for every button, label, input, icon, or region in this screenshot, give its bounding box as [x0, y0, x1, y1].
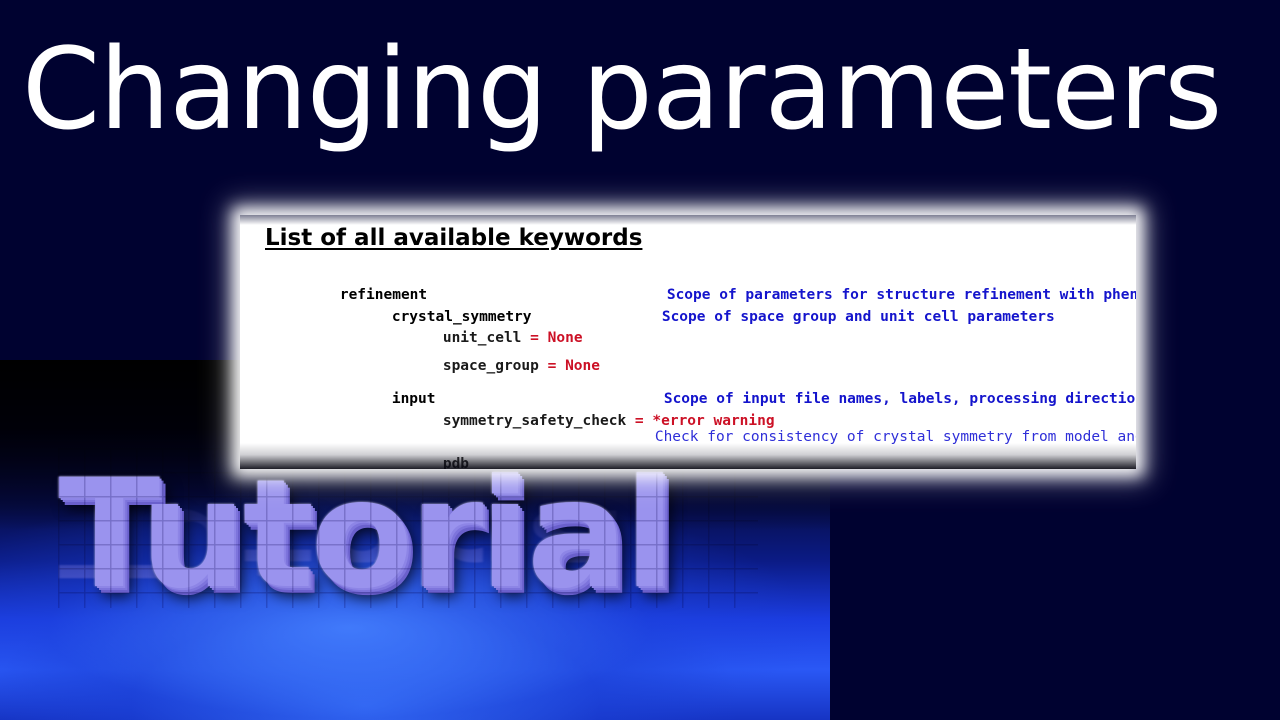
page-title: Changing parameters [22, 34, 1262, 146]
keyword-value: None [565, 358, 600, 374]
panel-heading: List of all available keywords [265, 225, 642, 251]
tutorial-word: Tutorial [58, 448, 671, 622]
panel-edge-bottom [240, 443, 1136, 469]
keyword-help-text: Scope of space group and unit cell param… [662, 309, 1055, 325]
panel-edge-top [240, 215, 1136, 225]
keywords-panel: List of all available keywords refinemen… [240, 215, 1136, 469]
keywords-panel-inner: List of all available keywords refinemen… [240, 215, 1136, 469]
keyword-name: space_group [443, 358, 539, 374]
keyword-help: Scope of space group and unit cell param… [592, 295, 1055, 339]
slide-canvas: Changing parameters Tutorial Tutorial Li… [0, 0, 1280, 720]
